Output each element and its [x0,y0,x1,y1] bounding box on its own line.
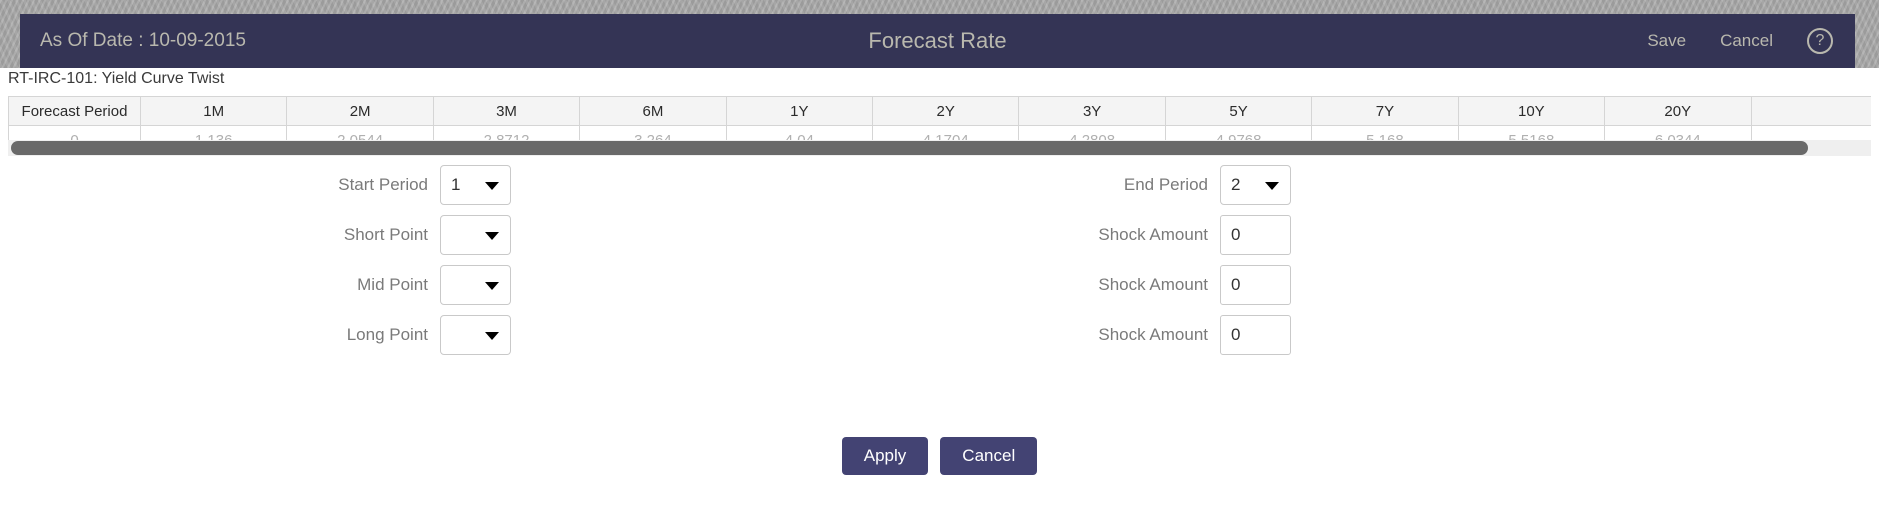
column-header: 7Y [1312,97,1458,126]
left-control-cell: 1 [440,165,620,205]
selected-value: 2 [1231,175,1240,195]
left-control-cell [440,215,620,255]
as-of-date-label: As Of Date : 10-09-2015 [40,30,246,52]
start-period-label: Start Period [0,175,440,195]
form-cancel-button[interactable]: Cancel [940,437,1037,475]
chevron-down-icon[interactable] [485,232,499,240]
breadcrumb: RT-IRC-101: Yield Curve Twist [8,70,224,88]
short-point-select[interactable] [440,215,511,255]
left-control-cell [440,265,620,305]
twist-parameters-form: Start Period1End Period2Short PointShock… [0,165,1879,355]
form-action-buttons: Apply Cancel [0,437,1879,475]
column-header-spacer [1751,97,1871,126]
start-period-select[interactable]: 1 [440,165,511,205]
column-header: 2Y [873,97,1019,126]
title-bar-actions: Save Cancel ? [1647,28,1833,54]
end-period-label-1: End Period [1045,175,1220,195]
right-control-cell [1220,215,1400,255]
column-header: 5Y [1165,97,1311,126]
chevron-down-icon[interactable] [485,182,499,190]
forecast-rate-page: As Of Date : 10-09-2015 Forecast Rate Sa… [0,0,1879,511]
column-header: 3M [433,97,579,126]
table-header-row: Forecast Period1M2M3M6M1Y2Y3Y5Y7Y10Y20Y [9,97,1872,126]
help-icon[interactable]: ? [1807,28,1833,54]
mid-point-select[interactable] [440,265,511,305]
shock-amount-input[interactable] [1220,265,1291,305]
short-point-label: Short Point [0,225,440,245]
end-period-select[interactable]: 2 [1220,165,1291,205]
selected-value: 1 [451,175,460,195]
apply-button[interactable]: Apply [842,437,929,475]
column-header: Forecast Period [9,97,141,126]
column-header: 6M [580,97,726,126]
title-bar: As Of Date : 10-09-2015 Forecast Rate Sa… [20,14,1855,68]
horizontal-scrollbar[interactable] [8,140,1871,156]
shock-amount-input[interactable] [1220,215,1291,255]
long-point-label: Long Point [0,325,440,345]
save-button[interactable]: Save [1647,31,1686,51]
left-control-cell [440,315,620,355]
shock-amount-input[interactable] [1220,315,1291,355]
mid-point-label: Mid Point [0,275,440,295]
shock-amount-label-2: Shock Amount [1045,225,1220,245]
chevron-down-icon[interactable] [1265,182,1279,190]
long-point-select[interactable] [440,315,511,355]
right-control-cell [1220,315,1400,355]
scrollbar-thumb[interactable] [11,141,1808,155]
shock-amount-label-4: Shock Amount [1045,325,1220,345]
column-header: 1Y [726,97,872,126]
column-header: 3Y [1019,97,1165,126]
column-header: 10Y [1458,97,1604,126]
column-header: 1M [141,97,287,126]
right-control-cell [1220,265,1400,305]
cancel-button[interactable]: Cancel [1720,31,1773,51]
chevron-down-icon[interactable] [485,332,499,340]
chevron-down-icon[interactable] [485,282,499,290]
right-control-cell: 2 [1220,165,1400,205]
column-header: 2M [287,97,433,126]
page-title: Forecast Rate [20,28,1855,54]
column-header: 20Y [1605,97,1751,126]
shock-amount-label-3: Shock Amount [1045,275,1220,295]
